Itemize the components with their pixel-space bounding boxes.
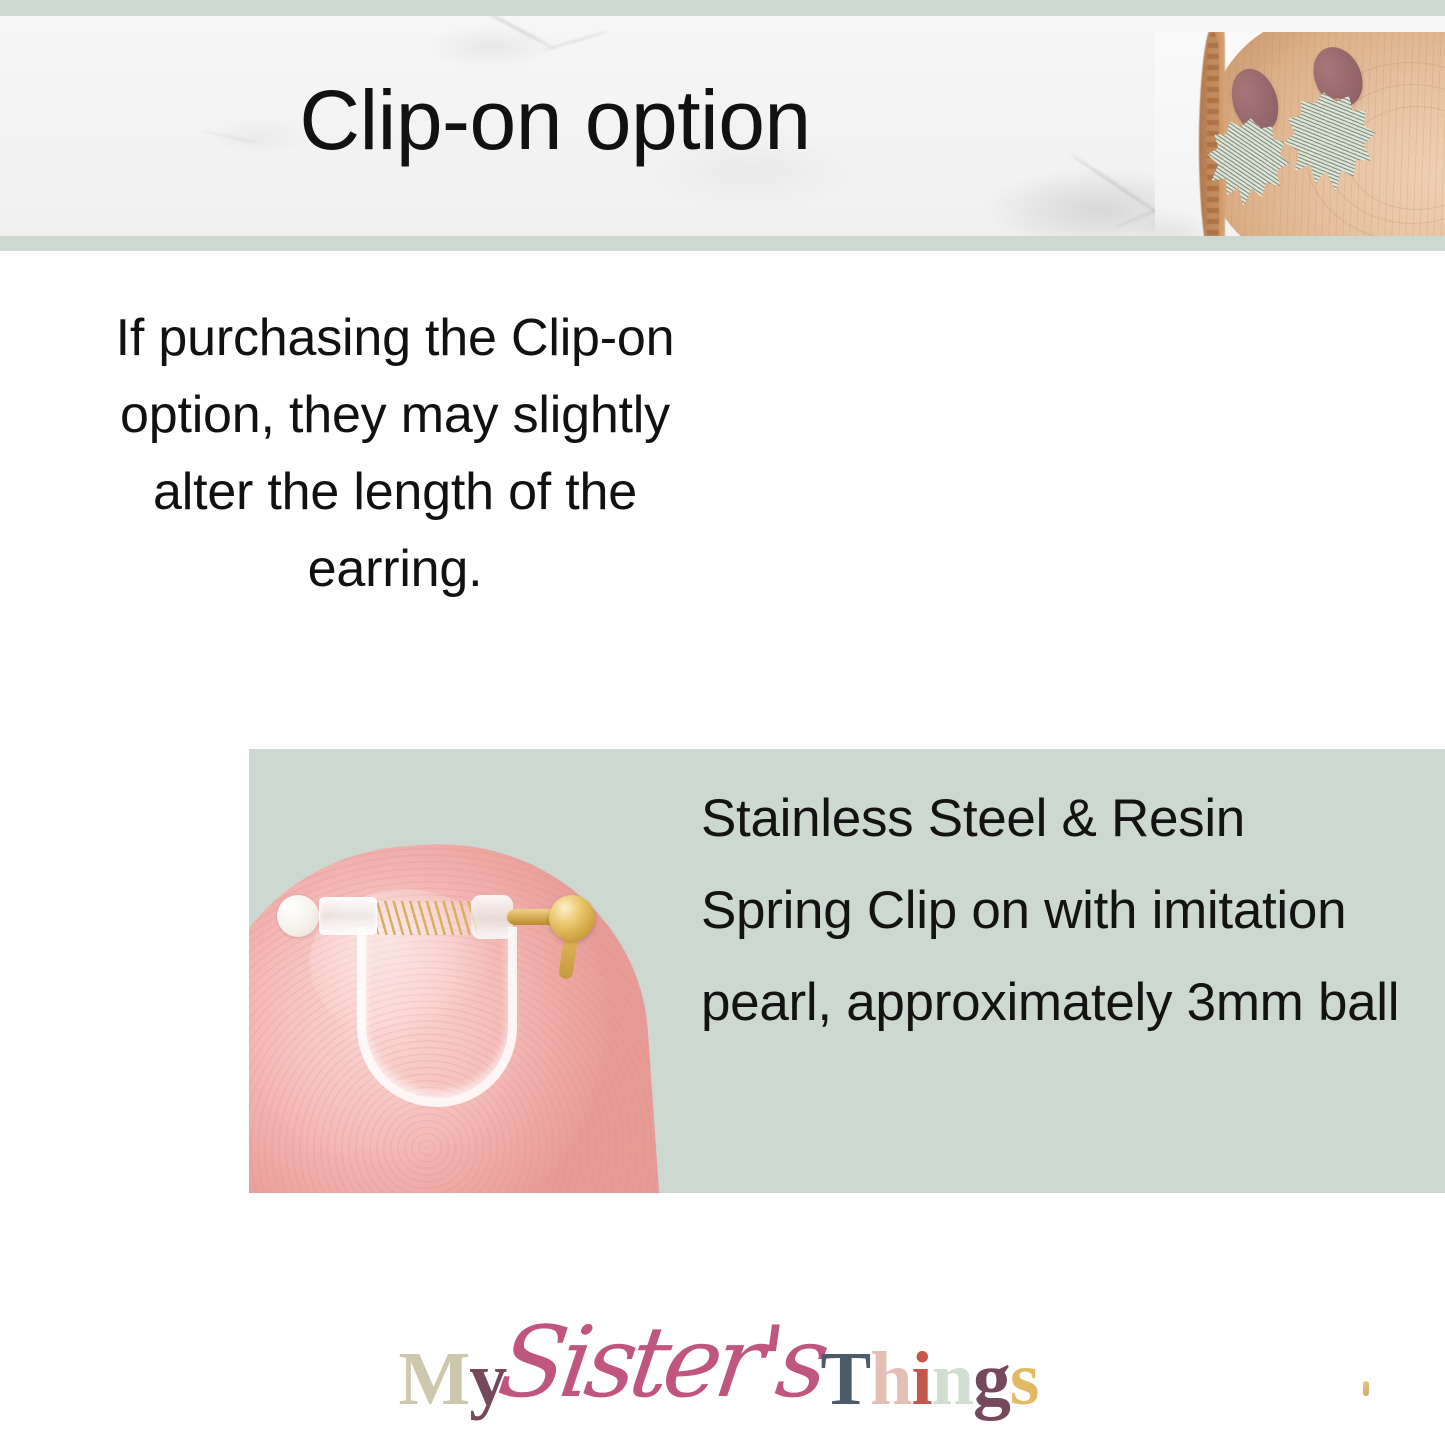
- clip-on-specification-text: Stainless Steel & Resin Spring Clip on w…: [701, 773, 1401, 1049]
- logo-letter-M: M: [399, 1337, 470, 1421]
- logo-letter-i: i: [911, 1337, 931, 1421]
- page-title: Clip-on option: [0, 76, 1110, 164]
- resin-u-band: [357, 927, 517, 1107]
- logo-letter-T: T: [821, 1337, 871, 1421]
- stainless-steel-spring: [377, 901, 477, 935]
- logo-wordmark: MySister'sThings: [399, 1300, 1047, 1410]
- marble-vein: [475, 16, 556, 50]
- clip-on-info-panel: Stainless Steel & Resin Spring Clip on w…: [249, 749, 1445, 1193]
- slide-canvas: Clip-on option If purchasing the Clip-on…: [0, 0, 1445, 1445]
- header-green-band: Clip-on option: [0, 0, 1445, 251]
- brand-logo: MySister'sThings: [0, 1300, 1445, 1410]
- stray-gold-speck: [1363, 1381, 1369, 1396]
- logo-letter-g: g: [973, 1337, 1010, 1421]
- logo-letter-s: s: [1010, 1337, 1039, 1421]
- logo-things: Things: [821, 1337, 1039, 1421]
- header-marble-background: Clip-on option: [0, 16, 1445, 236]
- clip-on-finding-photo: [249, 749, 689, 1193]
- resin-tube: [319, 897, 377, 935]
- header-product-photo: [1155, 32, 1445, 236]
- logo-my: My: [399, 1337, 507, 1421]
- logo-letter-h: h: [870, 1337, 911, 1421]
- clip-on-note-paragraph: If purchasing the Clip-on option, they m…: [75, 300, 715, 608]
- logo-letter-n: n: [932, 1337, 973, 1421]
- gold-ball-3mm: [549, 895, 595, 941]
- logo-script-sisters: Sister's: [492, 1306, 830, 1420]
- marble-vein: [541, 30, 609, 51]
- wood-bark-texture: [1207, 32, 1219, 236]
- imitation-pearl-ball: [277, 895, 319, 937]
